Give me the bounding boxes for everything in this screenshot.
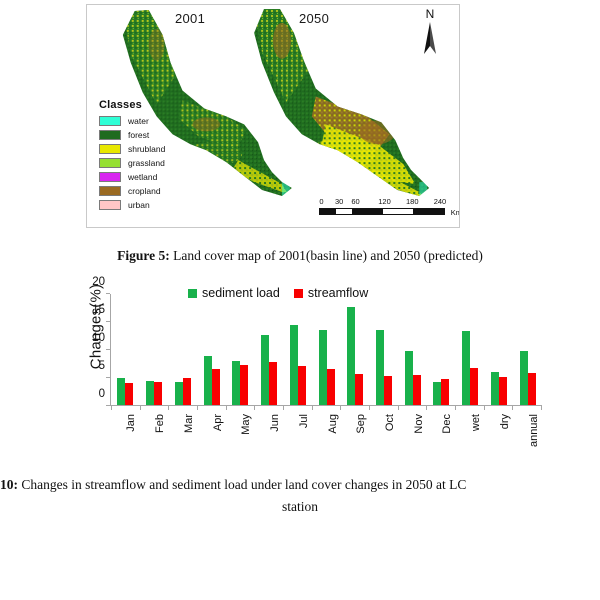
changes-bar-chart: Changes(%) sediment load streamflow 0510… bbox=[52, 288, 552, 468]
chart-bar-wet-sediment-load bbox=[462, 331, 470, 405]
map-scale-bar: 0 30 60 120 180 240 Km bbox=[319, 197, 445, 215]
chart-bar-feb-sediment-load bbox=[146, 381, 154, 405]
chart-x-label-oct: Oct bbox=[370, 412, 399, 462]
chart-bar-group-may bbox=[226, 294, 255, 405]
chart-plot-area: 05101520 bbox=[110, 294, 542, 406]
legend-label-cropland: cropland bbox=[128, 186, 161, 196]
legend-label-wetland: wetland bbox=[128, 172, 157, 182]
north-arrow-label: N bbox=[417, 8, 443, 20]
chart-bar-dry-streamflow bbox=[499, 377, 507, 405]
chart-bar-nov-streamflow bbox=[413, 375, 421, 405]
chart-x-label-text-feb: Feb bbox=[154, 414, 166, 433]
chart-x-tickmarks bbox=[111, 406, 542, 410]
legend-item-shrubland: shrubland bbox=[99, 143, 183, 155]
figure-10-caption-line2: station bbox=[0, 496, 600, 518]
chart-bar-aug-sediment-load bbox=[319, 330, 327, 405]
figure-5-caption-text: Land cover map of 2001(basin line) and 2… bbox=[170, 248, 483, 263]
chart-x-tickmark-aug bbox=[312, 406, 341, 410]
legend-swatch-urban bbox=[99, 200, 121, 210]
chart-x-label-text-oct: Oct bbox=[384, 414, 396, 431]
north-arrow-icon bbox=[422, 21, 438, 55]
scale-bar-ticks: 0 30 60 120 180 240 bbox=[319, 197, 445, 208]
chart-y-tick-0: 0 bbox=[99, 388, 105, 400]
chart-x-tickmark-may bbox=[226, 406, 255, 410]
chart-bar-apr-streamflow bbox=[212, 369, 220, 405]
chart-bar-group-jul bbox=[283, 294, 312, 405]
legend-label-water: water bbox=[128, 116, 149, 126]
chart-x-label-jan: Jan bbox=[111, 412, 140, 462]
chart-x-label-text-annual: annual bbox=[528, 414, 540, 447]
chart-bar-group-dry bbox=[485, 294, 514, 405]
chart-bar-group-aug bbox=[312, 294, 341, 405]
chart-y-axis: 05101520 bbox=[80, 294, 110, 406]
chart-x-label-dry: dry bbox=[485, 412, 514, 462]
scale-tick-120: 120 bbox=[378, 197, 391, 206]
scale-bar-unit: Km bbox=[451, 208, 460, 217]
chart-bar-dec-streamflow bbox=[441, 379, 449, 405]
legend-swatch-cropland bbox=[99, 186, 121, 196]
chart-bar-mar-streamflow bbox=[183, 378, 191, 405]
map-year-2001-label: 2001 bbox=[175, 11, 205, 26]
chart-bar-annual-streamflow bbox=[528, 373, 536, 405]
chart-x-tickmark-jun bbox=[254, 406, 283, 410]
legend-swatch-wetland bbox=[99, 172, 121, 182]
legend-item-urban: urban bbox=[99, 199, 183, 211]
chart-bar-group-nov bbox=[398, 294, 427, 405]
legend-item-wetland: wetland bbox=[99, 171, 183, 183]
chart-x-label-text-sep: Sep bbox=[355, 414, 367, 434]
chart-x-tickmark-oct bbox=[369, 406, 398, 410]
chart-bar-apr-sediment-load bbox=[204, 356, 212, 405]
chart-bar-jun-streamflow bbox=[269, 362, 277, 405]
scale-tick-180: 180 bbox=[406, 197, 419, 206]
chart-bar-group-mar bbox=[168, 294, 197, 405]
legend-swatch-grassland bbox=[99, 158, 121, 168]
legend-swatch-shrubland bbox=[99, 144, 121, 154]
figure-10-caption: 10: Changes in streamflow and sediment l… bbox=[0, 474, 600, 518]
land-cover-map-figure: 2001 2050 N Classes water forest shrubla… bbox=[86, 4, 460, 228]
chart-x-tickmark-dec bbox=[426, 406, 455, 410]
scale-tick-0: 0 bbox=[319, 197, 323, 206]
chart-x-label-text-jul: Jul bbox=[298, 414, 310, 428]
legend-label-shrubland: shrubland bbox=[128, 144, 165, 154]
chart-bar-jul-streamflow bbox=[298, 366, 306, 405]
north-arrow: N bbox=[417, 8, 443, 60]
chart-bar-group-annual bbox=[513, 294, 542, 405]
chart-x-label-text-dry: dry bbox=[499, 414, 511, 429]
chart-x-label-nov: Nov bbox=[398, 412, 427, 462]
chart-bar-oct-streamflow bbox=[384, 376, 392, 405]
chart-x-label-aug: Aug bbox=[312, 412, 341, 462]
legend-title: Classes bbox=[99, 99, 183, 111]
chart-x-label-text-jun: Jun bbox=[269, 414, 281, 432]
chart-x-label-jun: Jun bbox=[255, 412, 284, 462]
chart-x-label-jul: Jul bbox=[283, 412, 312, 462]
chart-x-label-text-nov: Nov bbox=[413, 414, 425, 434]
chart-bar-group-jan bbox=[111, 294, 140, 405]
chart-bar-dry-sediment-load bbox=[491, 372, 499, 405]
chart-bars-container bbox=[111, 294, 542, 405]
legend-label-urban: urban bbox=[128, 200, 150, 210]
chart-x-tickmark-jan bbox=[111, 406, 140, 410]
chart-x-label-text-may: May bbox=[240, 414, 252, 435]
chart-bar-oct-sediment-load bbox=[376, 330, 384, 405]
figure-page: 2001 2050 N Classes water forest shrubla… bbox=[0, 0, 600, 600]
chart-bar-mar-sediment-load bbox=[175, 382, 183, 405]
map-legend: Classes water forest shrubland grassland… bbox=[99, 99, 183, 213]
chart-x-label-mar: Mar bbox=[168, 412, 197, 462]
chart-x-label-annual: annual bbox=[513, 412, 542, 462]
scale-tick-60: 60 bbox=[351, 197, 359, 206]
chart-bar-sep-streamflow bbox=[355, 374, 363, 405]
legend-item-grassland: grassland bbox=[99, 157, 183, 169]
chart-bar-group-apr bbox=[197, 294, 226, 405]
chart-bar-jan-sediment-load bbox=[117, 378, 125, 405]
legend-label-forest: forest bbox=[128, 130, 149, 140]
chart-bar-may-sediment-load bbox=[232, 361, 240, 405]
scale-bar-graphic bbox=[319, 208, 445, 215]
chart-bar-jun-sediment-load bbox=[261, 335, 269, 405]
chart-x-tickmark-mar bbox=[168, 406, 197, 410]
chart-x-label-may: May bbox=[226, 412, 255, 462]
chart-x-tickmark-annual bbox=[512, 406, 542, 410]
chart-x-label-text-jan: Jan bbox=[125, 414, 137, 432]
legend-swatch-forest bbox=[99, 130, 121, 140]
chart-bar-group-oct bbox=[370, 294, 399, 405]
chart-x-tickmark-wet bbox=[455, 406, 484, 410]
chart-x-label-text-dec: Dec bbox=[441, 414, 453, 434]
chart-x-tickmark-sep bbox=[340, 406, 369, 410]
chart-x-tickmark-feb bbox=[140, 406, 169, 410]
chart-bar-group-sep bbox=[341, 294, 370, 405]
chart-x-axis-labels: JanFebMarAprMayJunJulAugSepOctNovDecwetd… bbox=[111, 412, 542, 462]
chart-bar-feb-streamflow bbox=[154, 382, 162, 405]
legend-swatch-water bbox=[99, 116, 121, 126]
chart-bar-group-jun bbox=[255, 294, 284, 405]
chart-bar-dec-sediment-load bbox=[433, 382, 441, 405]
chart-bar-annual-sediment-load bbox=[520, 351, 528, 405]
figure-10-number: 10: bbox=[0, 477, 18, 492]
figure-10-caption-line1: Changes in streamflow and sediment load … bbox=[18, 477, 466, 492]
chart-x-tickmark-apr bbox=[197, 406, 226, 410]
scale-tick-30: 30 bbox=[335, 197, 343, 206]
legend-label-grassland: grassland bbox=[128, 158, 165, 168]
chart-bar-may-streamflow bbox=[240, 365, 248, 406]
chart-bar-sep-sediment-load bbox=[347, 307, 355, 405]
chart-x-label-wet: wet bbox=[456, 412, 485, 462]
figure-5-number: Figure 5: bbox=[117, 248, 170, 263]
legend-item-cropland: cropland bbox=[99, 185, 183, 197]
chart-bar-group-feb bbox=[140, 294, 169, 405]
figure-5-caption: Figure 5: Land cover map of 2001(basin l… bbox=[0, 248, 600, 264]
chart-x-label-text-aug: Aug bbox=[327, 414, 339, 434]
chart-x-label-dec: Dec bbox=[427, 412, 456, 462]
chart-x-label-apr: Apr bbox=[197, 412, 226, 462]
legend-item-water: water bbox=[99, 115, 183, 127]
chart-x-label-sep: Sep bbox=[341, 412, 370, 462]
chart-x-label-text-wet: wet bbox=[470, 414, 482, 431]
chart-bar-nov-sediment-load bbox=[405, 351, 413, 405]
chart-x-label-text-apr: Apr bbox=[212, 414, 224, 431]
chart-bar-jan-streamflow bbox=[125, 383, 133, 405]
chart-bar-jul-sediment-load bbox=[290, 325, 298, 405]
legend-item-forest: forest bbox=[99, 129, 183, 141]
chart-y-tick-10: 10 bbox=[92, 332, 105, 344]
scale-tick-240: 240 bbox=[434, 197, 447, 206]
chart-x-tickmark-jul bbox=[283, 406, 312, 410]
chart-x-label-feb: Feb bbox=[140, 412, 169, 462]
map-year-2050-label: 2050 bbox=[299, 11, 329, 26]
chart-y-tick-20: 20 bbox=[92, 276, 105, 288]
chart-x-tickmark-dry bbox=[484, 406, 513, 410]
chart-bar-group-dec bbox=[427, 294, 456, 405]
chart-y-tick-5: 5 bbox=[99, 360, 105, 372]
chart-bar-aug-streamflow bbox=[327, 369, 335, 405]
chart-bar-wet-streamflow bbox=[470, 368, 478, 405]
chart-x-tickmark-nov bbox=[398, 406, 427, 410]
chart-bar-group-wet bbox=[456, 294, 485, 405]
chart-x-label-text-mar: Mar bbox=[183, 414, 195, 433]
chart-y-tick-15: 15 bbox=[92, 304, 105, 316]
